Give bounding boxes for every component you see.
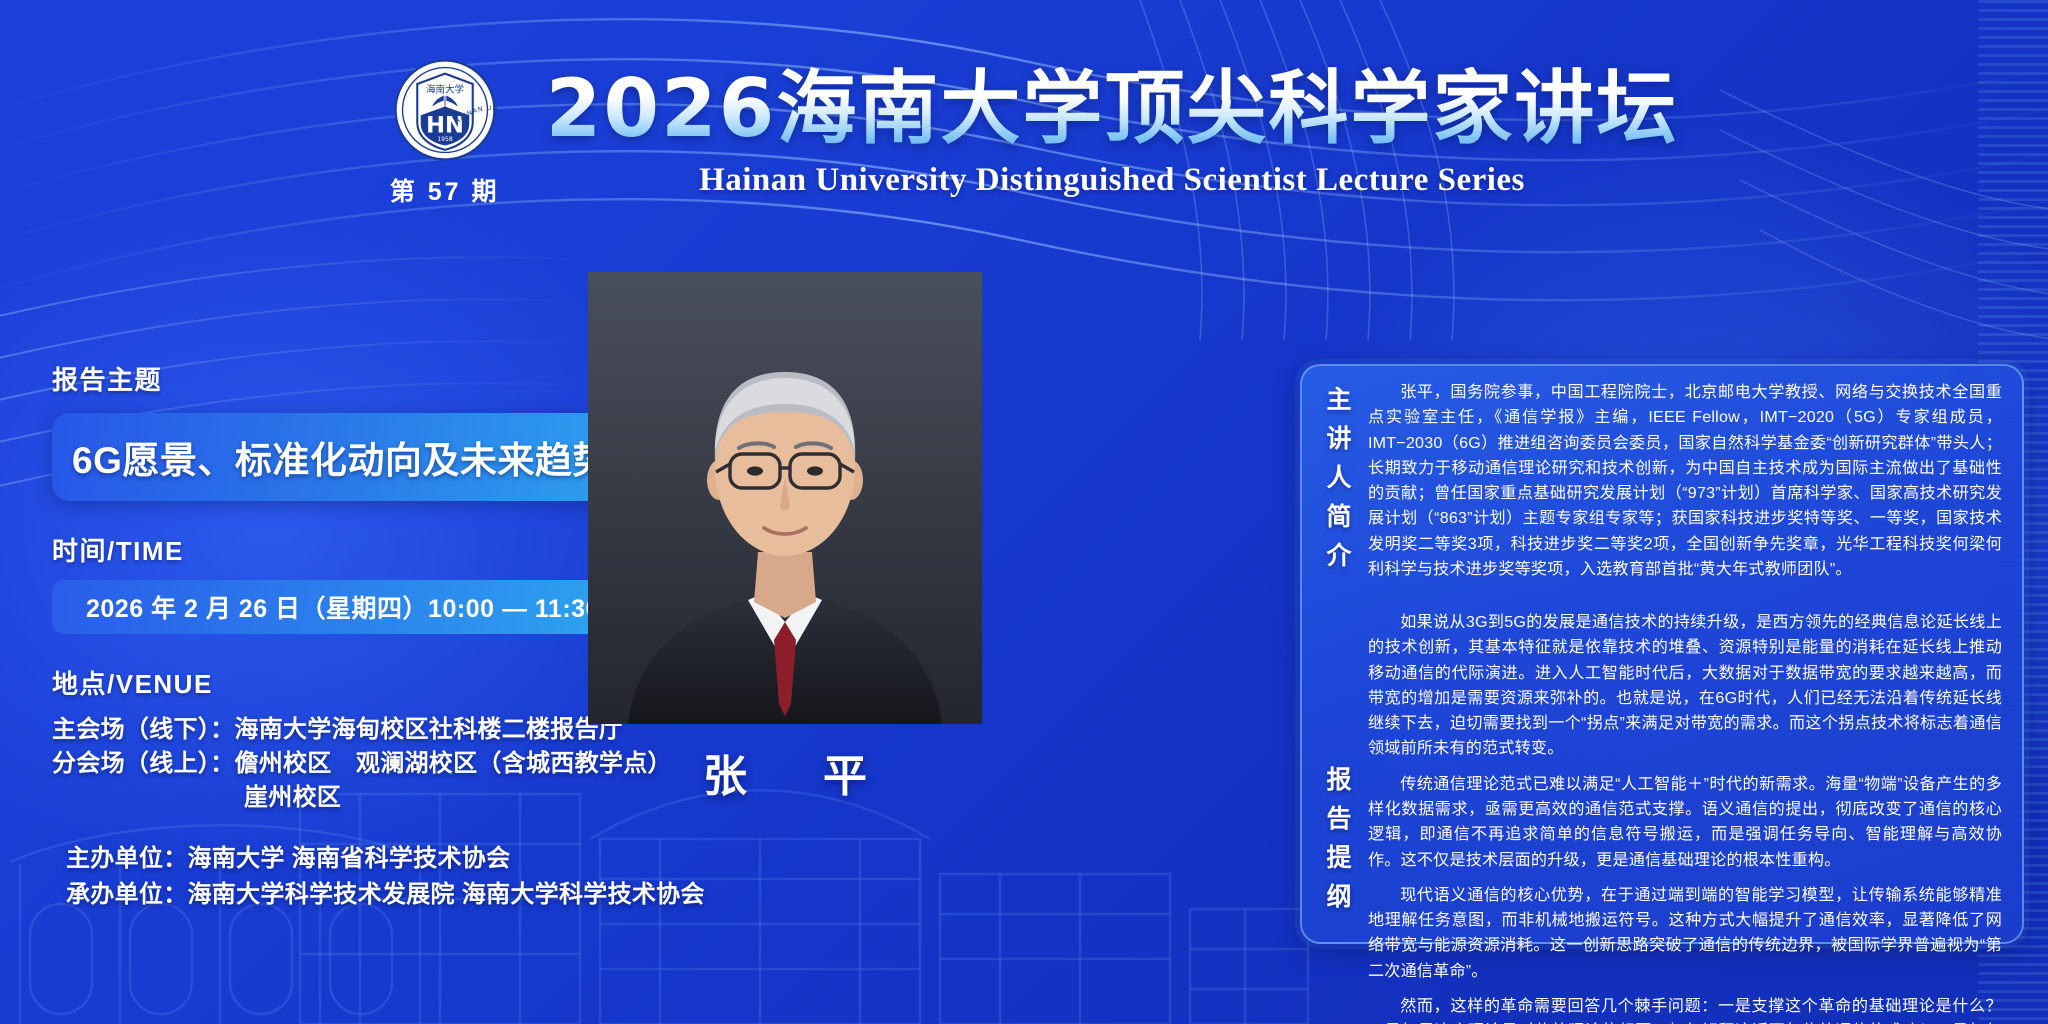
organizer-lines: 主办单位：海南大学 海南省科学技术协会 承办单位：海南大学科学技术发展院 海南大… bbox=[52, 841, 702, 913]
speaker-portrait bbox=[588, 272, 982, 724]
title-block: 2026海南大学顶尖科学家讲坛 Hainan University Distin… bbox=[546, 67, 1679, 199]
outline-vertical-label: 报告提纲 bbox=[1318, 766, 1354, 922]
svg-text:1958: 1958 bbox=[437, 136, 453, 143]
page-title: 2026海南大学顶尖科学家讲坛 bbox=[546, 67, 1679, 152]
topic-pill: 6G愿景、标准化动向及未来趋势 bbox=[52, 413, 660, 501]
speaker-bio-panel: 主讲人简介 报告提纲 张平，国务院参事，中国工程院院士，北京邮电大学教授、网络与… bbox=[1300, 364, 2024, 944]
time-value: 2026 年 2 月 26 日（星期四）10:00 — 11:30 bbox=[86, 589, 600, 625]
issue-badge: 第 57 期 bbox=[390, 172, 500, 208]
hainan-university-seal-icon: HN 海南大学 1958 HAINAN UNIVERSITY bbox=[393, 58, 497, 162]
bio-vertical-label: 主讲人简介 bbox=[1318, 386, 1354, 581]
vertical-label-column: 主讲人简介 报告提纲 bbox=[1312, 380, 1368, 928]
poster-root: HN 海南大学 1958 HAINAN UNIVERSITY 第 57 期 20… bbox=[0, 0, 2048, 1024]
topic-title: 6G愿景、标准化动向及未来趋势 bbox=[72, 430, 610, 484]
outline-paragraph: 现代语义通信的核心优势，在于通过端到端的智能学习模型，让传输系统能够精准地理解任… bbox=[1368, 883, 2002, 984]
speaker-name: 张 平 bbox=[588, 724, 982, 804]
page-subtitle: Hainan University Distinguished Scientis… bbox=[699, 162, 1525, 199]
outline-paragraph: 然而，这样的革命需要回答几个棘手问题：一是支撑这个革命的基础理论是什么？二是如果… bbox=[1368, 994, 2002, 1024]
header-row: HN 海南大学 1958 HAINAN UNIVERSITY 第 57 期 20… bbox=[370, 58, 1679, 208]
time-pill: 2026 年 2 月 26 日（星期四）10:00 — 11:30 bbox=[52, 580, 612, 634]
logo-block: HN 海南大学 1958 HAINAN UNIVERSITY 第 57 期 bbox=[370, 58, 520, 208]
organizer-line: 承办单位：海南大学科学技术发展院 海南大学科学技术协会 bbox=[52, 877, 702, 913]
bio-paragraph: 张平，国务院参事，中国工程院院士，北京邮电大学教授、网络与交换技术全国重点实验室… bbox=[1368, 380, 2002, 582]
organizer-line: 主办单位：海南大学 海南省科学技术协会 bbox=[52, 841, 702, 877]
outline-paragraph: 传统通信理论范式已难以满足“人工智能＋”时代的新需求。海量“物端”设备产生的多样… bbox=[1368, 772, 2002, 873]
poster-header: HN 海南大学 1958 HAINAN UNIVERSITY 第 57 期 20… bbox=[0, 58, 2048, 208]
bio-panel-body: 张平，国务院参事，中国工程院院士，北京邮电大学教授、网络与交换技术全国重点实验室… bbox=[1368, 380, 2006, 928]
svg-text:海南大学: 海南大学 bbox=[426, 84, 464, 96]
svg-text:HN: HN bbox=[426, 113, 464, 139]
outline-paragraph: 如果说从3G到5G的发展是通信技术的持续升级，是西方领先的经典信息论延长线上的技… bbox=[1368, 610, 2002, 762]
